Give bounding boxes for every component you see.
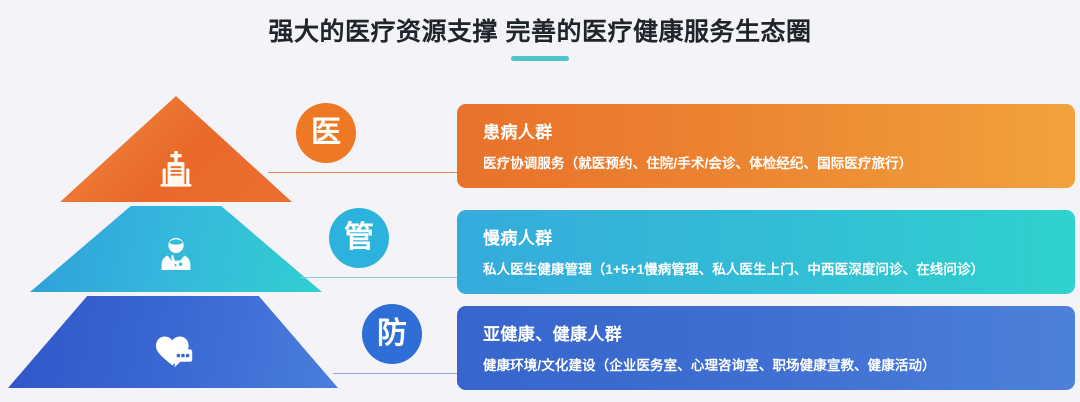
card-description: 私人医生健康管理（1+5+1慢病管理、私人医生上门、中西医深度问诊、在线问诊） (483, 258, 1075, 278)
card-huanbing-renqun[interactable]: 患病人群 医疗协调服务（就医预约、住院/手术/会诊、体检经纪、国际医疗旅行） (457, 104, 1075, 188)
connector-line-fang (333, 373, 458, 374)
card-yajiankang-renqun[interactable]: 亚健康、健康人群 健康环境/文化建设（企业医务室、心理咨询室、职场健康宣教、健康… (457, 306, 1075, 390)
card-title: 慢病人群 (483, 224, 1075, 249)
segment-row-huanbing: 医 患病人群 医疗协调服务（就医预约、住院/手术/会诊、体检经纪、国际医疗旅行） (0, 96, 1080, 192)
card-manbing-renqun[interactable]: 慢病人群 私人医生健康管理（1+5+1慢病管理、私人医生上门、中西医深度问诊、在… (457, 210, 1075, 294)
card-title: 患病人群 (483, 118, 1075, 143)
connector-line-yi (268, 172, 458, 173)
badge-fang[interactable]: 防 (362, 304, 422, 364)
segment-row-manbing: 管 慢病人群 私人医生健康管理（1+5+1慢病管理、私人医生上门、中西医深度问诊… (0, 200, 1080, 296)
badge-guan-label: 管 (344, 223, 374, 253)
header: 强大的医疗资源支撑 完善的医疗健康服务生态圈 (0, 0, 1080, 78)
card-description: 医疗协调服务（就医预约、住院/手术/会诊、体检经纪、国际医疗旅行） (483, 152, 1075, 172)
title-underline-divider (511, 56, 569, 61)
page-title: 强大的医疗资源支撑 完善的医疗健康服务生态圈 (0, 12, 1080, 48)
badge-guan[interactable]: 管 (329, 208, 389, 268)
connector-line-guan (300, 277, 458, 278)
segment-row-yajiankang: 防 亚健康、健康人群 健康环境/文化建设（企业医务室、心理咨询室、职场健康宣教、… (0, 296, 1080, 392)
badge-fang-label: 防 (377, 319, 407, 349)
infographic-canvas: 强大的医疗资源支撑 完善的医疗健康服务生态圈 (0, 0, 1080, 402)
card-description: 健康环境/文化建设（企业医务室、心理咨询室、职场健康宣教、健康活动） (483, 354, 1075, 374)
card-title: 亚健康、健康人群 (483, 320, 1075, 345)
badge-yi[interactable]: 医 (296, 103, 356, 163)
badge-yi-label: 医 (311, 118, 341, 148)
